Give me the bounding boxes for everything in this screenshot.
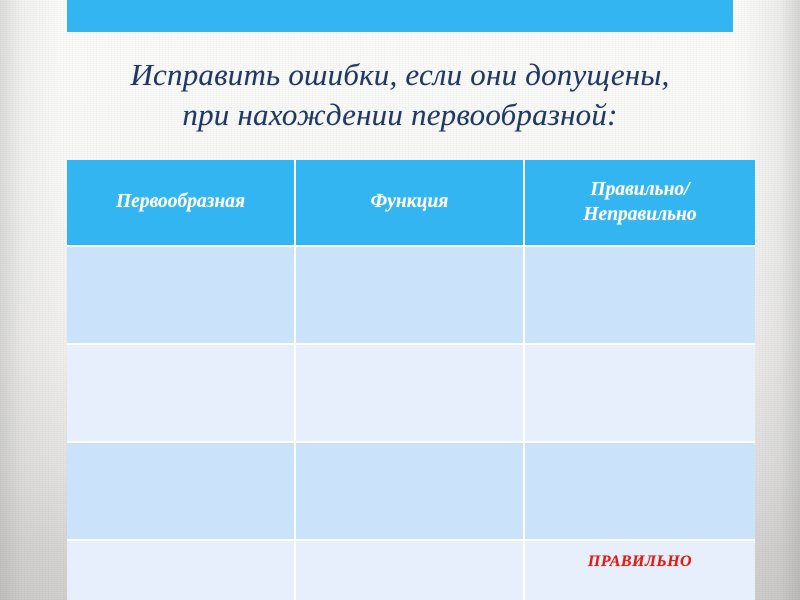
cell-function-value: [304, 449, 515, 450]
page-title-line-1: Исправить ошибки, если они допущены,: [40, 55, 760, 95]
cell-function[interactable]: [295, 442, 524, 540]
cell-verdict-value: [533, 449, 747, 450]
cell-antiderivative-value: [75, 351, 286, 352]
cell-verdict[interactable]: ПРАВИЛЬНО: [524, 540, 755, 600]
status-badge-correct: ПРАВИЛЬНО: [588, 547, 692, 571]
cell-antiderivative[interactable]: [67, 246, 295, 344]
table-row: [67, 246, 755, 344]
table-row: [67, 344, 755, 442]
table-row: [67, 442, 755, 540]
cell-antiderivative[interactable]: [67, 442, 295, 540]
top-accent-bar: [67, 0, 733, 32]
cell-verdict-value: [533, 351, 747, 352]
cell-verdict[interactable]: [524, 344, 755, 442]
cell-function-value: [304, 547, 515, 548]
table-row: ПРАВИЛЬНО: [67, 540, 755, 600]
table-header-row: Первообразная Функция Правильно/ Неправи…: [67, 160, 755, 246]
cell-verdict-value: [533, 253, 747, 254]
column-header-antiderivative: Первообразная: [67, 160, 295, 246]
column-header-verdict: Правильно/ Неправильно: [524, 160, 755, 246]
cell-antiderivative[interactable]: [67, 540, 295, 600]
cell-function[interactable]: [295, 246, 524, 344]
cell-verdict[interactable]: [524, 246, 755, 344]
column-header-function: Функция: [295, 160, 524, 246]
cell-antiderivative[interactable]: [67, 344, 295, 442]
cell-verdict[interactable]: [524, 442, 755, 540]
cell-function-value: [304, 253, 515, 254]
cell-function[interactable]: [295, 540, 524, 600]
cell-function[interactable]: [295, 344, 524, 442]
page-title: Исправить ошибки, если они допущены, при…: [40, 55, 760, 136]
page-title-line-2: при нахождении первообразной:: [40, 95, 760, 135]
column-header-verdict-line-2: Неправильно: [583, 204, 696, 225]
cell-function-value: [304, 351, 515, 352]
antiderivative-check-table: Первообразная Функция Правильно/ Неправи…: [67, 160, 755, 600]
cell-antiderivative-value: [75, 547, 286, 548]
column-header-verdict-line-1: Правильно/: [590, 179, 689, 200]
slide-canvas: Исправить ошибки, если они допущены, при…: [0, 0, 800, 600]
cell-antiderivative-value: [75, 449, 286, 450]
cell-antiderivative-value: [75, 253, 286, 254]
